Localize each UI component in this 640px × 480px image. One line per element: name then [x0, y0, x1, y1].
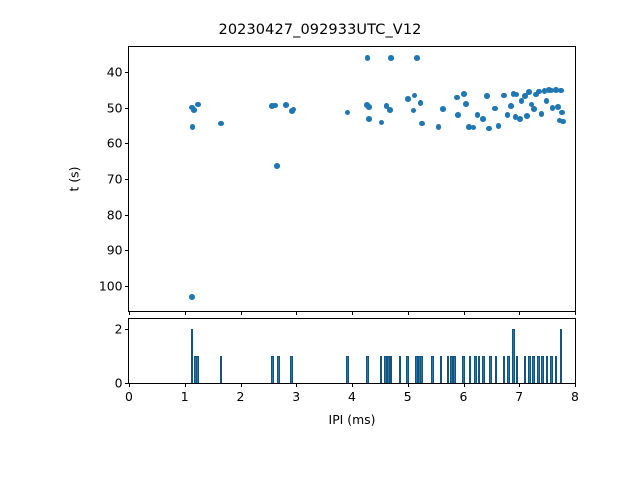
- scatter-point: [519, 98, 525, 104]
- scatter-point: [274, 163, 280, 169]
- histogram-bar: [191, 329, 194, 383]
- scatter-point: [454, 95, 460, 101]
- scatter-point: [496, 123, 502, 129]
- histogram-bar: [220, 356, 223, 383]
- scatter-point: [505, 112, 511, 118]
- histogram-bar: [528, 356, 531, 383]
- histogram-bar: [482, 356, 485, 383]
- x-tick-label: 2: [237, 390, 245, 403]
- x-tick-mark: [575, 383, 576, 387]
- x-axis-label: IPI (ms): [329, 412, 376, 427]
- histogram-bar: [546, 356, 549, 383]
- scatter-point: [536, 89, 542, 95]
- x-tick-label: 5: [404, 390, 412, 403]
- y-tick-mark: [125, 250, 129, 251]
- scatter-point: [531, 106, 537, 112]
- x-tick-mark: [464, 311, 465, 315]
- scatter-plot-area: [129, 47, 575, 311]
- y-tick-label: 60: [107, 137, 123, 150]
- histogram-bar: [489, 356, 492, 383]
- scatter-point: [560, 119, 566, 125]
- scatter-point: [471, 125, 477, 131]
- y-tick-mark: [125, 329, 129, 330]
- scatter-point: [379, 120, 385, 126]
- x-tick-mark: [575, 311, 576, 315]
- histogram-bar: [532, 356, 535, 383]
- histogram-bar: [420, 356, 423, 383]
- x-tick-mark: [129, 311, 130, 315]
- x-tick-mark: [296, 311, 297, 315]
- histogram-bar: [290, 356, 293, 383]
- histogram-bar: [366, 356, 369, 383]
- x-tick-mark: [408, 311, 409, 315]
- histogram-bar: [524, 356, 527, 383]
- histogram-bar: [277, 356, 280, 383]
- x-tick-label: 4: [348, 390, 356, 403]
- y-tick-mark: [125, 215, 129, 216]
- figure-canvas: 20230427_092933UTC_V12 405060708090100 t…: [0, 0, 640, 480]
- x-tick-mark: [241, 383, 242, 387]
- scatter-panel: 405060708090100: [128, 46, 576, 312]
- scatter-point: [412, 93, 418, 99]
- histogram-bar: [462, 356, 465, 383]
- x-tick-mark: [185, 311, 186, 315]
- scatter-point: [484, 93, 490, 99]
- scatter-point: [524, 113, 530, 119]
- x-tick-label: 3: [292, 390, 300, 403]
- histogram-bar: [196, 356, 199, 383]
- scatter-point: [526, 89, 532, 95]
- histogram-bar: [346, 356, 349, 383]
- scatter-point: [366, 116, 372, 122]
- scatter-point: [455, 112, 461, 118]
- y-tick-mark: [125, 72, 129, 73]
- y-tick-label: 90: [107, 244, 123, 257]
- histogram-bar: [560, 329, 563, 383]
- x-tick-mark: [464, 383, 465, 387]
- histogram-bar: [550, 356, 553, 383]
- scatter-point: [508, 103, 514, 109]
- scatter-point: [388, 55, 394, 61]
- scatter-point: [419, 121, 425, 127]
- scatter-point: [436, 124, 442, 130]
- scatter-point: [418, 100, 424, 106]
- x-tick-mark: [296, 383, 297, 387]
- histogram-bar: [469, 356, 472, 383]
- scatter-point: [555, 104, 561, 110]
- x-tick-mark: [519, 311, 520, 315]
- y-tick-label: 80: [107, 208, 123, 221]
- scatter-point: [365, 55, 371, 61]
- scatter-point: [366, 104, 372, 110]
- scatter-point: [463, 101, 469, 107]
- scatter-point: [218, 121, 224, 127]
- histogram-bar: [390, 356, 393, 383]
- x-tick-label: 6: [460, 390, 468, 403]
- y-tick-label: 70: [107, 173, 123, 186]
- x-tick-mark: [352, 383, 353, 387]
- x-tick-label: 1: [181, 390, 189, 403]
- scatter-point: [559, 110, 565, 116]
- histogram-bar: [478, 356, 481, 383]
- y-tick-label: 2: [115, 322, 123, 335]
- scatter-point: [514, 92, 520, 98]
- y-tick-mark: [125, 143, 129, 144]
- histogram-bar: [440, 356, 443, 383]
- y-tick-mark: [125, 179, 129, 180]
- x-tick-label: 7: [515, 390, 523, 403]
- y-tick-label: 40: [107, 65, 123, 78]
- x-tick-mark: [129, 383, 130, 387]
- scatter-point: [345, 110, 351, 116]
- scatter-point: [283, 102, 289, 108]
- page-title: 20230427_092933UTC_V12: [0, 22, 640, 39]
- x-tick-label: 0: [125, 390, 133, 403]
- histogram-bar: [384, 356, 387, 383]
- scatter-point: [492, 106, 498, 112]
- scatter-point: [195, 102, 201, 108]
- scatter-point: [189, 294, 195, 300]
- y-axis-label: t (s): [67, 167, 82, 192]
- scatter-point: [517, 116, 523, 122]
- scatter-point: [461, 91, 467, 97]
- histogram-bar: [541, 356, 544, 383]
- x-tick-label: 8: [571, 390, 579, 403]
- histogram-panel: 02 012345678: [128, 318, 576, 384]
- histogram-bar: [503, 356, 506, 383]
- scatter-point: [486, 126, 492, 132]
- histogram-bar: [537, 356, 540, 383]
- scatter-point: [501, 93, 507, 99]
- y-tick-mark: [125, 286, 129, 287]
- scatter-point: [291, 107, 297, 113]
- histogram-bar: [406, 356, 409, 383]
- histogram-bar: [507, 356, 510, 383]
- histogram-bar: [495, 356, 498, 383]
- histogram-bar: [555, 356, 558, 383]
- histogram-bar: [447, 356, 450, 383]
- histogram-plot-area: [129, 319, 575, 383]
- histogram-bar: [450, 356, 453, 383]
- x-tick-mark: [241, 311, 242, 315]
- histogram-bar: [271, 356, 274, 383]
- x-tick-mark: [352, 311, 353, 315]
- scatter-point: [405, 96, 411, 102]
- scatter-point: [539, 111, 545, 117]
- scatter-point: [544, 98, 550, 104]
- scatter-point: [440, 106, 446, 112]
- x-tick-mark: [519, 383, 520, 387]
- histogram-bar: [516, 356, 519, 383]
- scatter-point: [414, 55, 420, 61]
- histogram-bar: [474, 356, 477, 383]
- y-tick-label: 50: [107, 101, 123, 114]
- x-tick-mark: [185, 383, 186, 387]
- histogram-bar: [399, 356, 402, 383]
- histogram-bar: [453, 356, 456, 383]
- y-tick-label: 0: [115, 377, 123, 390]
- y-tick-label: 100: [99, 280, 123, 293]
- scatter-point: [558, 88, 564, 94]
- scatter-point: [272, 103, 278, 109]
- scatter-point: [480, 116, 486, 122]
- histogram-bar: [431, 356, 434, 383]
- scatter-point: [411, 108, 417, 114]
- x-tick-mark: [408, 383, 409, 387]
- y-tick-mark: [125, 108, 129, 109]
- histogram-bar: [512, 329, 515, 383]
- scatter-point: [190, 124, 196, 130]
- scatter-point: [387, 107, 393, 113]
- histogram-bar: [380, 356, 383, 383]
